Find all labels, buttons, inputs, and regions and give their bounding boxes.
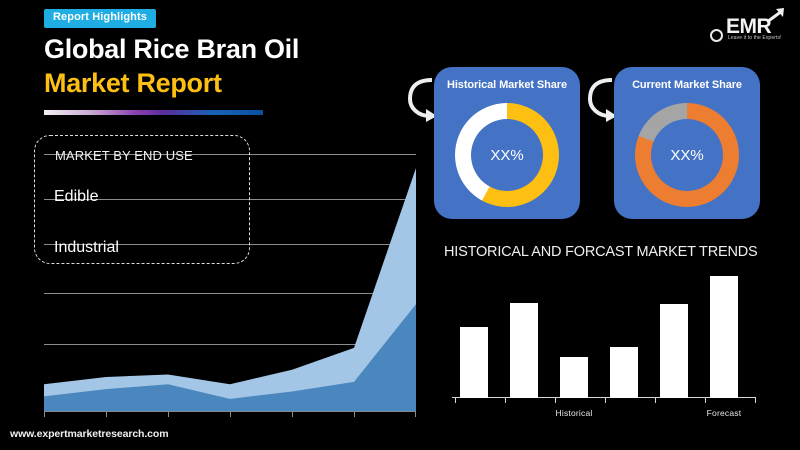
bar bbox=[610, 347, 638, 398]
footer-url: www.expertmarketresearch.com bbox=[10, 428, 168, 440]
donut-center-label: XX% bbox=[670, 147, 703, 164]
area-x-tick bbox=[354, 412, 355, 417]
current-market-share-title: Current Market Share bbox=[614, 79, 760, 91]
area-x-tick bbox=[292, 412, 293, 417]
donut-center: XX% bbox=[471, 119, 543, 191]
donut-center-label: XX% bbox=[490, 147, 523, 164]
current-market-share-donut: XX% bbox=[635, 103, 739, 207]
donut-center: XX% bbox=[651, 119, 723, 191]
report-highlights-badge: Report Highlights bbox=[44, 9, 156, 28]
bar bbox=[660, 304, 688, 398]
trends-title: HISTORICAL AND FORCAST MARKET TRENDS bbox=[444, 244, 784, 260]
market-by-end-use-title: MARKET BY END USE bbox=[55, 148, 249, 163]
logo-tagline: Leave it to the Experts! bbox=[728, 35, 782, 41]
end-use-item-edible: Edible bbox=[54, 188, 98, 206]
emr-logo: EMR Leave it to the Experts! bbox=[704, 8, 790, 46]
bar-x-label: Historical bbox=[549, 408, 599, 418]
bar bbox=[460, 327, 488, 398]
bar-x-tick bbox=[455, 398, 456, 403]
end-use-item-industrial: Industrial bbox=[54, 239, 119, 257]
bar-x-tick bbox=[655, 398, 656, 403]
area-x-tick bbox=[230, 412, 231, 417]
current-market-share-card: Current Market Share XX% bbox=[614, 67, 760, 219]
area-x-tick bbox=[168, 412, 169, 417]
page-title-line-1: Global Rice Bran Oil bbox=[44, 33, 444, 65]
trends-bar-chart: HistoricalForecast bbox=[452, 270, 787, 420]
area-x-tick bbox=[44, 412, 45, 417]
bar-x-label: Forecast bbox=[699, 408, 749, 418]
area-x-tick bbox=[415, 412, 416, 417]
page-title: Global Rice Bran Oil Market Report bbox=[44, 33, 444, 100]
bar-x-tick bbox=[605, 398, 606, 403]
bar bbox=[510, 303, 538, 398]
page-title-line-2: Market Report bbox=[44, 67, 444, 99]
bar-x-tick bbox=[755, 398, 756, 403]
historical-market-share-donut: XX% bbox=[455, 103, 559, 207]
report-highlights-slide: { "badge": { "label": "Report Highlights… bbox=[0, 0, 800, 450]
bar-x-tick bbox=[705, 398, 706, 403]
logo-wordmark: EMR bbox=[726, 16, 771, 37]
area-x-tick bbox=[106, 412, 107, 417]
logo-ring-icon bbox=[710, 29, 723, 42]
bar bbox=[710, 276, 738, 398]
title-underline-gradient bbox=[44, 110, 263, 115]
bar-x-tick bbox=[555, 398, 556, 403]
historical-market-share-title: Historical Market Share bbox=[434, 79, 580, 91]
bar-x-tick bbox=[505, 398, 506, 403]
bar bbox=[560, 357, 588, 398]
historical-market-share-card: Historical Market Share XX% bbox=[434, 67, 580, 219]
